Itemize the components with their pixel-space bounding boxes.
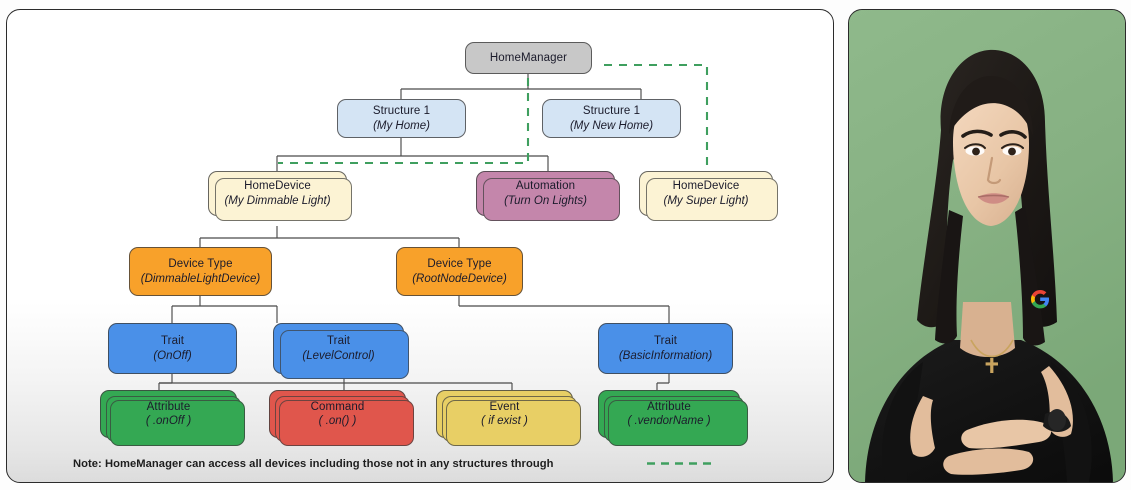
node-trait-basicinformation[interactable]: Trait (BasicInformation): [598, 323, 733, 374]
node-title: Device Type: [168, 257, 232, 271]
node-trait-levelcontrol[interactable]: Trait (LevelControl): [273, 323, 404, 374]
node-devicetype-dimmablelightdevice[interactable]: Device Type (DimmableLightDevice): [129, 247, 272, 296]
node-subtitle: (DimmableLightDevice): [141, 272, 261, 286]
node-subtitle: (BasicInformation): [619, 349, 712, 363]
node-subtitle: (LevelControl): [302, 349, 374, 363]
node-structure-my-home[interactable]: Structure 1 (My Home): [337, 99, 466, 138]
node-subtitle: ( .vendorName ): [627, 414, 710, 428]
node-title: Device Type: [427, 257, 491, 271]
node-title: Structure 1: [583, 104, 640, 118]
node-subtitle: ( .on() ): [319, 414, 357, 428]
node-homedevice-my-dimmable-light[interactable]: HomeDevice (My Dimmable Light): [208, 171, 347, 216]
node-subtitle: (My Super Light): [663, 194, 748, 208]
node-subtitle: ( .onOff ): [146, 414, 191, 428]
node-title: Trait: [327, 334, 350, 348]
node-automation-turn-on-lights[interactable]: Automation (Turn On Lights): [476, 171, 615, 216]
node-trait-onoff[interactable]: Trait (OnOff): [108, 323, 237, 374]
node-title: HomeDevice: [244, 179, 311, 193]
footer-note-dash-legend: [647, 462, 713, 465]
node-event-if-exist[interactable]: Event ( if exist ): [436, 390, 573, 438]
slide-panel: HomeManager Structure 1 (My Home) Struct…: [6, 9, 834, 483]
node-subtitle: (My New Home): [570, 119, 653, 133]
node-title: Automation: [516, 179, 575, 193]
node-title: Structure 1: [373, 104, 430, 118]
node-attribute-onoff[interactable]: Attribute ( .onOff ): [100, 390, 237, 438]
node-title: HomeDevice: [673, 179, 740, 193]
node-command-on[interactable]: Command ( .on() ): [269, 390, 406, 438]
node-subtitle: (RootNodeDevice): [412, 272, 507, 286]
presenter-image: [849, 10, 1125, 482]
node-subtitle: (Turn On Lights): [504, 194, 587, 208]
node-devicetype-rootnodedevice[interactable]: Device Type (RootNodeDevice): [396, 247, 523, 296]
node-homedevice-my-super-light[interactable]: HomeDevice (My Super Light): [639, 171, 773, 216]
node-title: HomeManager: [490, 51, 567, 65]
node-title: Trait: [161, 334, 184, 348]
node-title: Trait: [654, 334, 677, 348]
presenter-video-tile[interactable]: [848, 9, 1126, 483]
node-subtitle: ( if exist ): [481, 414, 528, 428]
node-subtitle: (My Dimmable Light): [224, 194, 330, 208]
footer-note: Note: HomeManager can access all devices…: [73, 458, 554, 470]
node-home-manager[interactable]: HomeManager: [465, 42, 592, 74]
node-subtitle: (OnOff): [153, 349, 191, 363]
node-title: Attribute: [647, 400, 691, 414]
node-title: Attribute: [147, 400, 191, 414]
node-subtitle: (My Home): [373, 119, 430, 133]
node-title: Event: [490, 400, 520, 414]
node-title: Command: [311, 400, 365, 414]
object-model-diagram: HomeManager Structure 1 (My Home) Struct…: [7, 10, 833, 482]
node-structure-my-new-home[interactable]: Structure 1 (My New Home): [542, 99, 681, 138]
node-attribute-vendorname[interactable]: Attribute ( .vendorName ): [598, 390, 740, 438]
screenshot-root: HomeManager Structure 1 (My Home) Struct…: [0, 0, 1131, 490]
